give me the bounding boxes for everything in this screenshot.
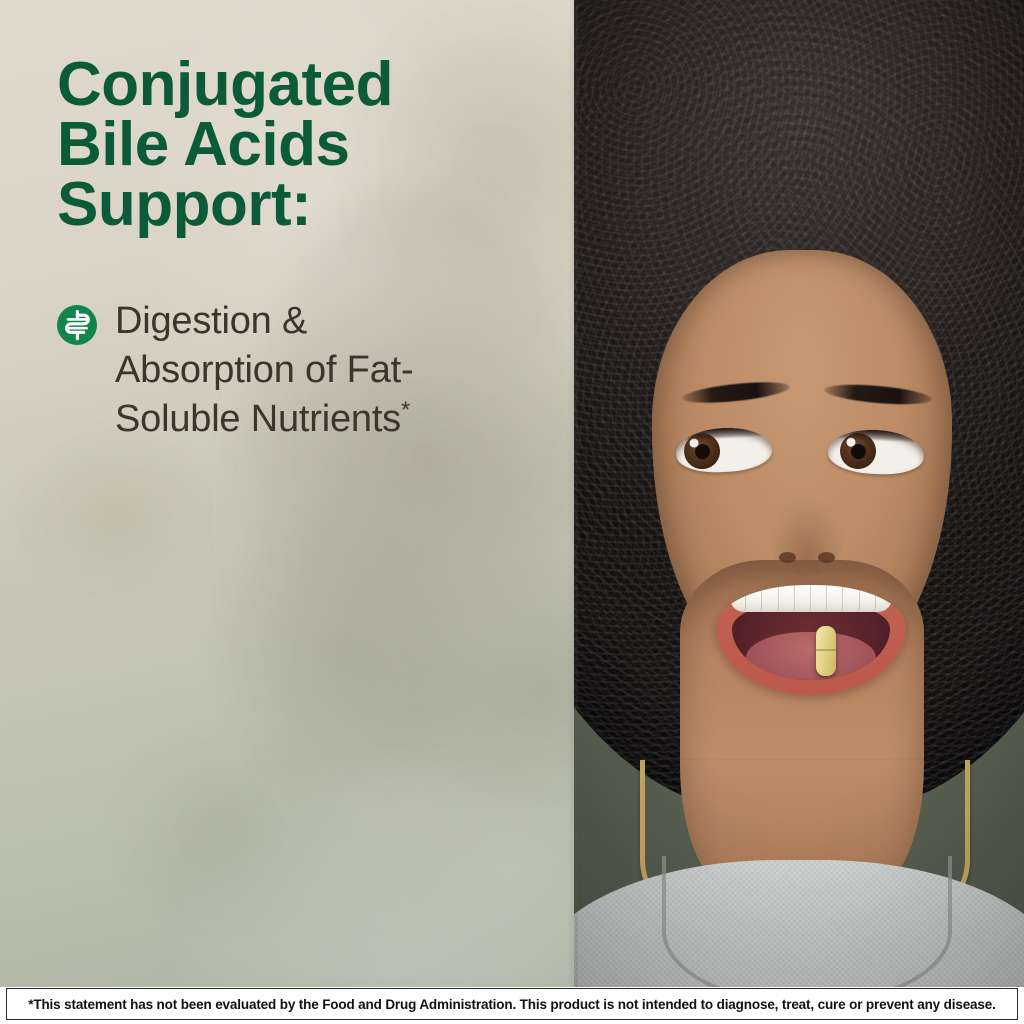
nose [770, 500, 844, 576]
digestive-tract-icon [57, 305, 97, 345]
mouth-interior [732, 602, 890, 680]
page-title: Conjugated Bile Acids Support: [57, 55, 557, 235]
benefit-asterisk: * [401, 396, 410, 422]
text-content: Conjugated Bile Acids Support: D [0, 0, 574, 443]
benefit-list-item: Digestion & Absorption of Fat-Soluble Nu… [57, 297, 574, 443]
disclaimer-bar: *This statement has not been evaluated b… [6, 988, 1018, 1020]
benefit-label: Digestion & Absorption of Fat-Soluble Nu… [115, 297, 445, 443]
capsule-pill [816, 626, 836, 676]
shirt-collar [662, 856, 952, 987]
nostril-left [779, 552, 796, 563]
headline-line-2: Bile Acids [57, 115, 557, 175]
product-photo [574, 0, 1024, 987]
teeth [730, 585, 892, 612]
text-panel: Conjugated Bile Acids Support: D [0, 0, 574, 987]
product-benefit-graphic: Conjugated Bile Acids Support: D [0, 0, 1024, 1024]
benefit-text-value: Digestion & Absorption of Fat-Soluble Nu… [115, 300, 413, 439]
headline-line-1: Conjugated [57, 55, 557, 115]
disclaimer-text: *This statement has not been evaluated b… [28, 997, 995, 1012]
nostril-right [818, 552, 835, 563]
background-silhouette-body [180, 760, 574, 987]
hair-frizz [574, 0, 1024, 290]
headline-line-3: Support: [57, 175, 557, 235]
tongue [746, 632, 876, 680]
